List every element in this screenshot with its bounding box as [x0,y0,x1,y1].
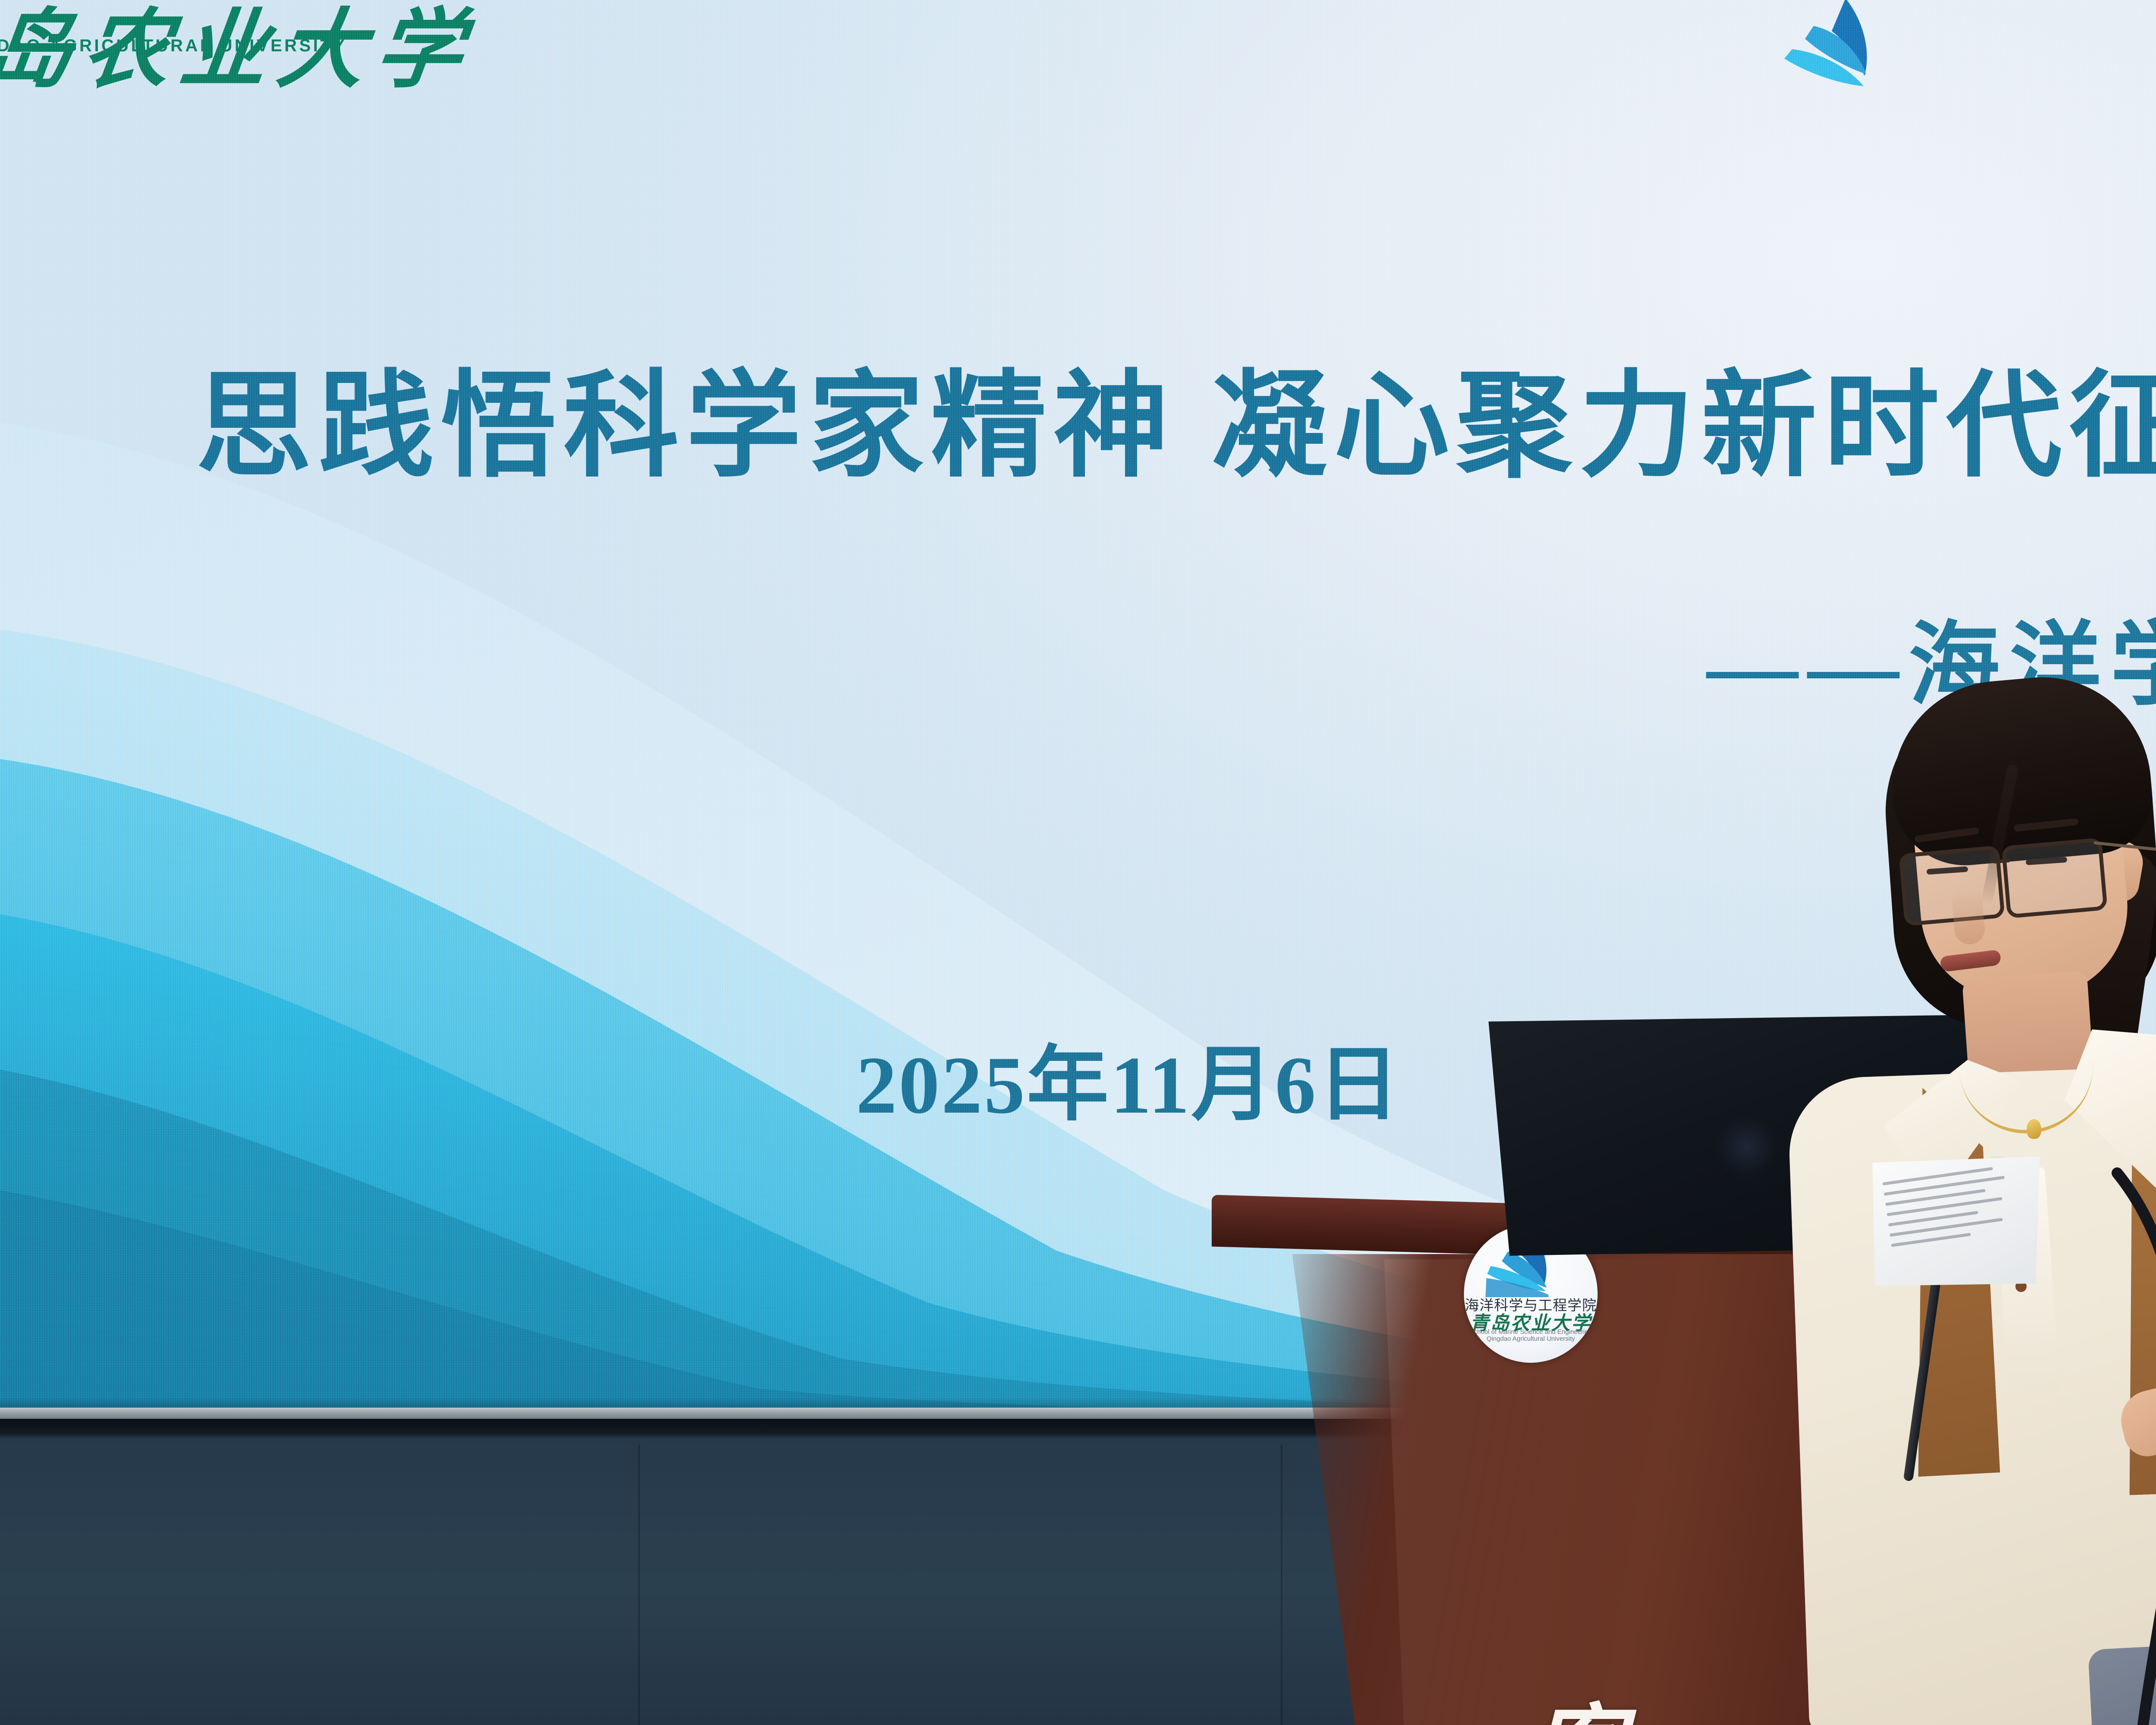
speech-notes-text-lines [1882,1164,2024,1281]
university-logo-left-english: GDAO AGRICULTURAL UNIVERSITY [0,36,347,56]
emblem-school-en: School of Marine Science and Engineering [1464,1328,1598,1336]
sail-wave-icon [1772,0,1915,102]
university-logo-left: 岛农业大学 GDAO AGRICULTURAL UNIVERSITY [0,0,461,70]
microphone-cable [2091,1164,2156,1725]
photograph-scene: 岛农业大学 GDAO AGRICULTURAL UNIVERSITY Schoo… [0,0,2156,1725]
screen-main-title: 思践悟科学家精神 凝心聚力新时代征程 [0,332,2156,499]
speaker-nose [1951,887,1986,946]
screen-date: 2025年11月6日 [856,1018,1401,1136]
lectern-front-character: 客 [1479,1673,1677,1725]
backdrop-seam [638,1445,640,1725]
school-logo-right: School of Marine Science and Engineering… [1725,0,2156,65]
eyeglasses-icon [1897,841,2152,923]
eyeglasses-lens-left [1899,845,2005,926]
laptop-lid-logo [1716,1115,1777,1179]
necklace-pendant [2027,1119,2041,1139]
eyeglasses-lens-right [2001,837,2108,919]
emblem-university-en: Qingdao Agricultural University [1464,1335,1598,1342]
eyeglasses-temple [2093,841,2156,853]
